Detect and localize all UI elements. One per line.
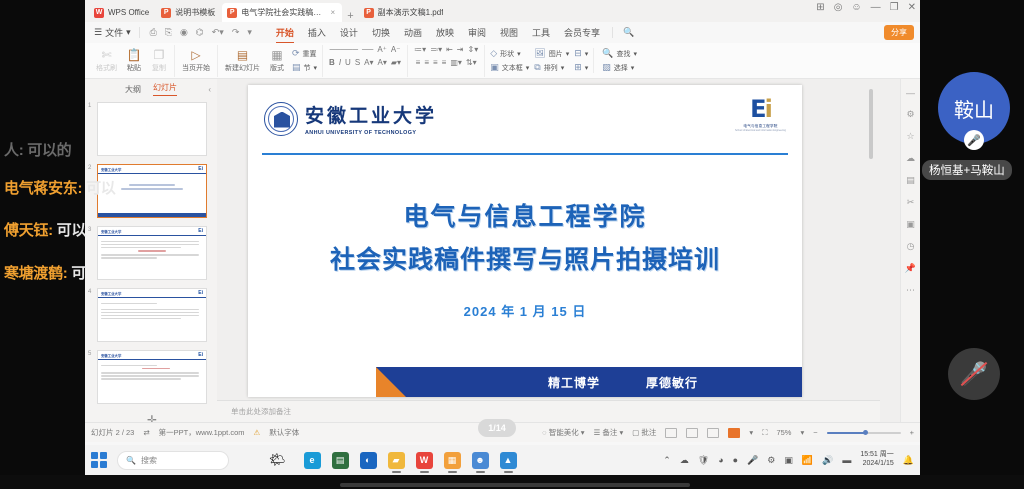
picture-button[interactable]: 🖼 图片 ▾ — [534, 48, 569, 59]
app-tab-label: 说明书模板 — [175, 7, 215, 18]
ribbon-subgroup-section: ⟳ 重置 ▤ 节 ▾ — [292, 48, 317, 73]
close-button[interactable]: ✕ — [908, 3, 916, 13]
right-tool-rail: — ⚙ ☆ ☁ ▤ ✂ ▣ ◷ 📌 ⋯ — [900, 79, 920, 422]
layout-icon: ▦ — [271, 49, 282, 61]
doc-icon[interactable]: ▤ — [906, 175, 915, 186]
shape-button[interactable]: ◇ 形状 ▾ — [490, 48, 529, 59]
font-status[interactable]: 默认字体 — [269, 427, 299, 438]
textbox-label: 文本框 — [502, 63, 523, 73]
beautify-button[interactable]: ◌ 智能美化 ▾ — [542, 427, 584, 438]
ppt-icon — [364, 8, 374, 18]
page-badge: 1/14 — [478, 419, 516, 437]
new-slide-label: 新建幻灯片 — [225, 63, 260, 73]
ribbon-group-slides: ▤ 新建幻灯片 ▦ 版式 ⟳ 重置 ▤ 节 ▾ — [218, 45, 323, 77]
star-icon[interactable]: ☆ — [906, 131, 914, 142]
wps-icon — [94, 8, 104, 18]
paste-button[interactable]: 📋 粘贴 — [124, 49, 144, 73]
wifi-icon[interactable]: 📶 — [802, 455, 813, 466]
windows-taskbar: 🔍 搜索 🌤 e ▤ ◐ ▰ W ▦ ☻ ▲ ⌃ ☁ 🛡 ◕ ● 🎤 ⚙ ▣ — [85, 445, 920, 475]
contacts-icon[interactable]: ☻ — [472, 452, 489, 469]
app-tab-label: 副本演示文稿1.pdf — [378, 7, 444, 18]
tab-tools[interactable]: 工具 — [532, 26, 550, 39]
align-objects-icon: ⊟ — [574, 48, 582, 59]
chat-message: 电气蒋安东: 可以 — [0, 178, 118, 199]
slide-date: 2024 年 1 月 15 日 — [248, 301, 802, 320]
chevron-down-icon: ▾ — [585, 64, 589, 72]
school-logo-group: Ei 电气与信息工程学院 School of Electrical and In… — [735, 97, 786, 132]
indent-increase-button[interactable]: ⇥ — [457, 45, 464, 54]
text-effects-button[interactable]: A▾ — [364, 58, 373, 67]
ppt-icon — [227, 8, 237, 18]
group-objects-icon: ⊞ — [574, 62, 582, 73]
app-tab-label: WPS Office — [108, 8, 149, 17]
battery-icon[interactable]: ▬ — [842, 455, 851, 465]
windows-start-icon[interactable] — [91, 452, 107, 468]
preview-icon[interactable]: ◉ — [180, 27, 188, 38]
screen-share-indicator-bar — [340, 483, 690, 487]
insert-col-3: ⊟ ▾ ⊞ ▾ — [574, 48, 588, 73]
thumbnail-univ-label: 安徽工业大学 — [101, 291, 121, 296]
zoom-slider-knob[interactable] — [863, 430, 868, 435]
clock-icon[interactable]: ◷ — [907, 241, 915, 252]
tab-review[interactable]: 审阅 — [468, 26, 486, 39]
photos-icon[interactable]: ▲ — [500, 452, 517, 469]
thumbnail-slide-4[interactable]: 4 安徽工业大学 Ei — [97, 288, 207, 342]
update-icon[interactable]: ◕ — [718, 455, 723, 465]
search-placeholder: 搜索 — [141, 455, 157, 466]
system-tray: ⌃ ☁ 🛡 ◕ ● 🎤 ⚙ ▣ 📶 🔊 ▬ 15:51 周一 2024/1/15… — [663, 451, 914, 469]
app-icon[interactable]: ▣ — [784, 455, 793, 466]
more-icon[interactable]: ⋯ — [906, 285, 915, 296]
title-bar: WPS Office 说明书模板 电气学院社会实践稿件撰写与... × + 副本… — [85, 0, 920, 22]
tab-start[interactable]: 开始 — [276, 26, 294, 39]
slide-main-content: 电气与信息工程学院 社会实践稿件撰写与照片拍摄培训 2024 年 1 月 15 … — [248, 155, 802, 320]
menu-bar: ☰ 文件 ▾ ⎙ ⎘ ◉ ⌬ ↶▾ ↷ ▾ 开始 插入 设计 切换 动画 放映 … — [85, 22, 920, 43]
justify-button[interactable]: ≡ — [442, 58, 447, 67]
taskbar-apps: e ▤ ◐ ▰ W ▦ ☻ ▲ — [296, 452, 517, 469]
workspace: 大纲 幻灯片 ‹ 1 2 安徽工业大学 Ei — [85, 79, 920, 422]
paste-icon: 📋 — [127, 49, 142, 61]
notes-button[interactable]: ☰ 备注 ▾ — [594, 427, 624, 438]
slide-editor[interactable]: 安徽工业大学 ANHUI UNIVERSITY OF TECHNOLOGY Ei… — [217, 79, 900, 422]
find-label: 查找 — [616, 49, 630, 59]
settings-icon[interactable]: ⚙ — [767, 455, 775, 466]
window-controls: ⊞ ◎ ☺ — ❐ ✕ — [816, 3, 916, 13]
view-play-icon[interactable] — [728, 428, 740, 438]
reset-icon: ⟳ — [292, 48, 300, 59]
font-status-icon: ⚠ — [254, 428, 261, 437]
copy-button[interactable]: ❐ 复制 — [149, 49, 169, 73]
arrange-button[interactable]: ⧉ 排列 ▾ — [534, 62, 569, 73]
tab-slideshow[interactable]: 放映 — [436, 26, 454, 39]
select-label: 选择 — [614, 63, 628, 73]
new-slide-button[interactable]: ▤ 新建幻灯片 — [223, 49, 262, 73]
notification-icon[interactable]: 🔔 — [903, 455, 914, 466]
close-tab-icon[interactable]: × — [331, 8, 336, 17]
arrange-label: 排列 — [544, 63, 558, 73]
find-button[interactable]: 🔍 查找 ▾ — [602, 48, 637, 59]
microphone-icon: 🎤 — [964, 130, 984, 150]
split-view-icon[interactable]: ⊞ — [816, 3, 824, 13]
play-label: 当页开始 — [182, 63, 210, 73]
bold-button[interactable]: B — [329, 58, 335, 67]
security-icon[interactable]: 🛡 — [698, 455, 709, 466]
zoom-slider[interactable] — [827, 432, 901, 434]
increase-font-icon[interactable]: A⁺ — [377, 45, 387, 54]
tab-animation[interactable]: 动画 — [404, 26, 422, 39]
tab-view[interactable]: 视图 — [500, 26, 518, 39]
pin-icon[interactable]: 📌 — [905, 263, 916, 274]
share-button[interactable]: 分享 — [884, 25, 914, 40]
format-brush-button[interactable]: ✄ 格式刷 — [94, 49, 119, 73]
slide-title-line2: 社会实践稿件撰写与照片拍摄培训 — [248, 240, 802, 276]
source-link-icon: ⇄ — [143, 428, 149, 437]
app-tab-template[interactable]: 说明书模板 — [156, 3, 222, 22]
ribbon-tabs: 开始 插入 设计 切换 动画 放映 审阅 视图 工具 会员专享 — [262, 26, 600, 39]
paragraph-row-top: ≔▾ ≕▾ ⇤ ⇥ ⇕▾ — [414, 45, 478, 54]
meeting-icon[interactable]: ▦ — [444, 452, 461, 469]
chat-text: 可以 — [86, 180, 115, 197]
new-slide-icon: ▤ — [237, 49, 248, 61]
university-logo-group: 安徽工业大学 ANHUI UNIVERSITY OF TECHNOLOGY — [264, 101, 437, 136]
chevron-down-icon[interactable]: ▾ — [749, 428, 753, 437]
quick-access-toolbar: ⎙ ⎘ ◉ ⌬ ↶▾ ↷ ▾ — [139, 27, 262, 38]
add-slide-button[interactable]: ✛ — [97, 412, 207, 422]
decrease-font-icon[interactable]: A⁻ — [391, 45, 401, 54]
chevron-down-icon: ▾ — [526, 64, 530, 72]
highlight-button[interactable]: ▰▾ — [391, 58, 401, 67]
thumbnail-slide-5[interactable]: 5 安徽工业大学 Ei — [97, 350, 207, 404]
reset-button[interactable]: ⟳ 重置 — [292, 48, 317, 59]
participant-name-chip: 杨恒基+马鞍山 — [922, 160, 1012, 180]
status-left: 幻灯片 2 / 23 ⇄ 第一PPT，www.1ppt.com ⚠ 默认字体 — [91, 427, 299, 438]
volume-icon[interactable]: 🔊 — [822, 455, 833, 466]
chevron-down-icon: ▾ — [585, 50, 589, 58]
copy-icon: ❐ — [154, 49, 165, 61]
layout-button[interactable]: ▦ 版式 — [267, 49, 287, 73]
italic-button[interactable]: I — [339, 58, 341, 67]
file-menu-button[interactable]: ☰ 文件 ▾ — [91, 26, 139, 39]
zoom-in-button[interactable]: + — [910, 428, 914, 437]
browser-icon[interactable]: ◐ — [360, 452, 377, 469]
thumbnail-univ-label: 安徽工业大学 — [101, 353, 121, 358]
align-center-button[interactable]: ≡ — [424, 58, 429, 67]
status-right: ◌ 智能美化 ▾ ☰ 备注 ▾ ▢ 批注 ▾ ⛶ 75% ▾ − + — [542, 427, 914, 438]
input-icon[interactable]: ● — [733, 455, 738, 465]
textbox-button[interactable]: ▣ 文本框 ▾ — [490, 62, 529, 73]
chevron-down-icon: ▾ — [517, 50, 521, 58]
align-right-button[interactable]: ≡ — [433, 58, 438, 67]
chat-sender: 寒塘渡鹤: — [4, 265, 68, 282]
insert-col-4: 🔍 查找 ▾ ▨ 选择 ▾ — [593, 48, 637, 73]
mic-icon[interactable]: 🎤 — [747, 455, 758, 466]
chat-message: 人: 可以的 — [0, 140, 118, 161]
layout-label: 版式 — [270, 63, 284, 73]
screen: WPS Office 说明书模板 电气学院社会实践稿件撰写与... × + 副本… — [0, 0, 1024, 489]
customize-icon[interactable]: ▾ — [247, 27, 252, 38]
meeting-chat-overlay: 人: 可以的 电气蒋安东: 可以 傅天钰: 可以 寒塘渡鹤: 可 — [0, 140, 118, 284]
ei-icon: Ei — [198, 166, 203, 172]
university-name-group: 安徽工业大学 ANHUI UNIVERSITY OF TECHNOLOGY — [305, 101, 437, 136]
redo-icon[interactable]: ↷ — [232, 27, 240, 38]
help-icon[interactable]: ◎ — [834, 3, 843, 13]
paste-label: 粘贴 — [127, 63, 141, 73]
ribbon-group-paragraph: ≔▾ ≕▾ ⇤ ⇥ ⇕▾ ≡ ≡ ≡ ≡ ▥▾ ⇅▾ — [408, 45, 485, 77]
view-normal-icon[interactable] — [665, 428, 677, 438]
font-size-box[interactable]: ── — [362, 45, 373, 54]
slide-footer: 精工博学 厚德敏行 — [248, 367, 802, 397]
thumbnail-number: 5 — [88, 351, 91, 357]
status-bar: 幻灯片 2 / 23 ⇄ 第一PPT，www.1ppt.com ⚠ 默认字体 1… — [85, 422, 920, 442]
thumbnail-preview: 安徽工业大学 Ei — [97, 288, 207, 342]
hamburger-icon: ☰ — [94, 27, 102, 38]
thumbnail-header: 安徽工业大学 Ei — [98, 351, 206, 360]
bullet-list-button[interactable]: ≔▾ — [414, 45, 426, 54]
app-tab-active-document[interactable]: 电气学院社会实践稿件撰写与... × — [222, 3, 342, 22]
university-name-cn: 安徽工业大学 — [305, 101, 437, 128]
search-icon[interactable]: 🔍 — [612, 27, 634, 38]
motto-left: 精工博学 — [548, 374, 600, 391]
cloud-icon[interactable]: ☁ — [906, 153, 915, 164]
tab-outline[interactable]: 大纲 — [125, 84, 141, 95]
weather-widget-icon[interactable]: 🌤 — [239, 452, 286, 468]
textbox-icon: ▣ — [490, 62, 499, 73]
tab-member[interactable]: 会员专享 — [564, 26, 600, 39]
thumbnail-number: 4 — [88, 289, 91, 295]
print-icon[interactable]: ⎘ — [165, 27, 172, 38]
zoom-out-button[interactable]: − — [813, 428, 817, 437]
school-name-en: School of Electrical and Information Eng… — [735, 129, 786, 132]
chevron-down-icon: ▾ — [126, 27, 131, 38]
taskbar-left: 🔍 搜索 🌤 e ▤ ◐ ▰ W ▦ ☻ ▲ — [85, 451, 517, 470]
find-icon: 🔍 — [602, 48, 613, 59]
chat-text: 可以 — [57, 222, 86, 239]
columns-button[interactable]: ▥▾ — [450, 58, 462, 67]
chat-sender: 傅天钰: — [4, 222, 53, 239]
zoom-dropdown-icon[interactable]: ▾ — [800, 428, 804, 437]
save-icon[interactable]: ⎙ — [150, 27, 157, 38]
ei-icon: Ei — [198, 228, 203, 234]
chat-sender: 电气蒋安东: — [4, 180, 82, 197]
taskbar-clock[interactable]: 15:51 周一 2024/1/15 — [860, 451, 893, 469]
chevron-left-icon[interactable]: ‹ — [208, 85, 211, 94]
font-name-box[interactable]: ───── — [330, 45, 358, 54]
comment-button[interactable]: ▢ 批注 — [632, 427, 656, 438]
play-icon: ▷ — [191, 49, 200, 61]
section-button[interactable]: ▤ 节 ▾ — [292, 62, 317, 73]
notes-placeholder: 单击此处添加备注 — [231, 406, 291, 417]
show-hidden-icon[interactable]: ⌃ — [663, 455, 671, 466]
settings-icon[interactable]: ⚙ — [906, 109, 914, 120]
onedrive-icon[interactable]: ☁ — [680, 455, 689, 466]
slide-counter: 幻灯片 2 / 23 — [91, 427, 134, 438]
thumbnail-panel-tabs: 大纲 幻灯片 ‹ — [85, 79, 217, 99]
search-input[interactable]: 🔍 搜索 — [117, 451, 229, 470]
motto-right: 厚德敏行 — [646, 374, 698, 391]
reset-label: 重置 — [303, 49, 317, 59]
tab-design[interactable]: 设计 — [340, 26, 358, 39]
file-menu-label: 文件 — [105, 26, 123, 39]
shape-label: 形状 — [500, 49, 514, 59]
slide-motto: 精工博学 厚德敏行 — [548, 374, 698, 391]
university-name-en: ANHUI UNIVERSITY OF TECHNOLOGY — [305, 130, 437, 136]
ei-icon: Ei — [198, 352, 203, 358]
group-objects-button[interactable]: ⊞ ▾ — [574, 62, 588, 73]
shape-icon: ◇ — [490, 48, 497, 59]
chevron-down-icon: ▾ — [631, 64, 635, 72]
thumbnail-body — [98, 298, 206, 324]
copy-label: 复制 — [152, 63, 166, 73]
tab-slides[interactable]: 幻灯片 — [153, 82, 177, 96]
ppt-icon — [161, 8, 171, 18]
fit-screen-icon[interactable]: ⛶ — [762, 428, 767, 438]
app-tab-wps-office[interactable]: WPS Office — [89, 3, 156, 22]
picture-label: 图片 — [549, 49, 563, 59]
chat-message: 傅天钰: 可以 — [0, 220, 118, 241]
search-icon: 🔍 — [126, 456, 136, 465]
play-from-current-button[interactable]: ▷ 当页开始 — [180, 49, 212, 73]
brush-icon[interactable]: ⌬ — [196, 27, 204, 38]
insert-col-1: ◇ 形状 ▾ ▣ 文本框 ▾ — [490, 48, 529, 73]
format-brush-icon: ✄ — [101, 49, 111, 61]
ei-logo-icon: Ei — [735, 97, 786, 121]
chevron-down-icon: ▾ — [561, 64, 565, 72]
new-tab-button[interactable]: + — [342, 10, 358, 22]
thumbnail-number: 1 — [88, 103, 91, 109]
clock-time: 15:51 周一 — [860, 451, 893, 460]
ribbon-group-insert: ◇ 形状 ▾ ▣ 文本框 ▾ 🖼 图片 ▾ — [485, 45, 642, 77]
align-objects-button[interactable]: ⊟ ▾ — [574, 48, 588, 59]
ribbon-group-font: ───── ── A⁺ A⁻ B I U S A▾ A▾ ▰▾ — [323, 45, 408, 77]
app-tab-label: 电气学院社会实践稿件撰写与... — [241, 7, 326, 18]
font-row-bottom: B I U S A▾ A▾ ▰▾ — [329, 58, 401, 67]
font-row-top: ───── ── A⁺ A⁻ — [330, 45, 401, 54]
clock-date: 2024/1/15 — [860, 460, 893, 469]
tab-insert[interactable]: 插入 — [308, 26, 326, 39]
university-seal-icon — [264, 102, 298, 136]
arrange-icon: ⧉ — [534, 62, 540, 73]
maximize-button[interactable]: ❐ — [890, 3, 899, 13]
select-icon: ▨ — [602, 62, 611, 73]
section-label: 节 — [304, 63, 311, 73]
text-direction-button[interactable]: ⇅▾ — [466, 58, 477, 67]
align-left-button[interactable]: ≡ — [416, 58, 421, 67]
slide-canvas[interactable]: 安徽工业大学 ANHUI UNIVERSITY OF TECHNOLOGY Ei… — [248, 85, 802, 397]
select-button[interactable]: ▨ 选择 ▾ — [602, 62, 637, 73]
chevron-down-icon: ▾ — [633, 50, 637, 58]
thumbnail-preview: 安徽工业大学 Ei — [97, 350, 207, 404]
insert-col-2: 🖼 图片 ▾ ⧉ 排列 ▾ — [534, 48, 569, 73]
tab-transition[interactable]: 切换 — [372, 26, 390, 39]
file-explorer-icon[interactable]: ▰ — [388, 452, 405, 469]
number-list-button[interactable]: ≕▾ — [430, 45, 442, 54]
format-brush-label: 格式刷 — [96, 63, 117, 73]
slide-header: 安徽工业大学 ANHUI UNIVERSITY OF TECHNOLOGY Ei… — [248, 85, 802, 153]
underline-button[interactable]: U — [345, 58, 351, 67]
source-link[interactable]: 第一PPT，www.1ppt.com — [159, 427, 245, 438]
chevron-down-icon: ▾ — [314, 64, 318, 72]
ribbon-group-play: ▷ 当页开始 — [175, 45, 218, 77]
ribbon-group-clipboard: ✄ 格式刷 📋 粘贴 ❐ 复制 — [89, 45, 175, 77]
font-color-button[interactable]: A▾ — [378, 58, 387, 67]
recycle-icon[interactable]: ▤ — [332, 452, 349, 469]
section-icon: ▤ — [292, 62, 301, 73]
thumbnail-body — [98, 360, 206, 384]
zoom-level: 75% — [776, 428, 791, 437]
notes-pane[interactable]: 单击此处添加备注 — [217, 400, 880, 422]
indent-decrease-button[interactable]: ⇤ — [446, 45, 453, 54]
chat-message: 寒塘渡鹤: 可 — [0, 263, 118, 284]
app-tab-pdf[interactable]: 副本演示文稿1.pdf — [359, 3, 451, 22]
paragraph-row-bottom: ≡ ≡ ≡ ≡ ▥▾ ⇅▾ — [416, 58, 477, 67]
account-icon[interactable]: ☺ — [851, 3, 861, 13]
view-sorter-icon[interactable] — [686, 428, 698, 438]
frame-icon[interactable]: ▣ — [906, 219, 915, 230]
chevron-down-icon: ▾ — [566, 50, 570, 58]
slide-title-line1: 电气与信息工程学院 — [248, 197, 802, 233]
wps-icon[interactable]: W — [416, 452, 433, 469]
ei-icon: Ei — [198, 290, 203, 296]
wps-office-window: WPS Office 说明书模板 电气学院社会实践稿件撰写与... × + 副本… — [85, 0, 920, 445]
view-reading-icon[interactable] — [707, 428, 719, 438]
chat-text: 可 — [71, 265, 86, 282]
scissors-icon[interactable]: ✂ — [907, 197, 915, 208]
edge-icon[interactable]: e — [304, 452, 321, 469]
picture-icon: 🖼 — [534, 48, 545, 59]
microphone-muted-icon[interactable]: 🎤 — [948, 348, 1000, 400]
minimize-icon[interactable]: — — [906, 88, 915, 98]
meeting-participant-rail: 鞍山 🎤 杨恒基+马鞍山 🎤 — [920, 0, 1024, 489]
undo-icon[interactable]: ↶▾ — [212, 27, 224, 38]
thumbnail-header: 安徽工业大学 Ei — [98, 289, 206, 298]
line-spacing-button[interactable]: ⇕▾ — [468, 45, 479, 54]
editor-scrollbar[interactable] — [869, 89, 873, 159]
minimize-button[interactable]: — — [871, 3, 881, 13]
strikethrough-button[interactable]: S — [355, 58, 360, 67]
ribbon-toolbar: ✄ 格式刷 📋 粘贴 ❐ 复制 ▷ 当页开始 — [85, 43, 920, 79]
